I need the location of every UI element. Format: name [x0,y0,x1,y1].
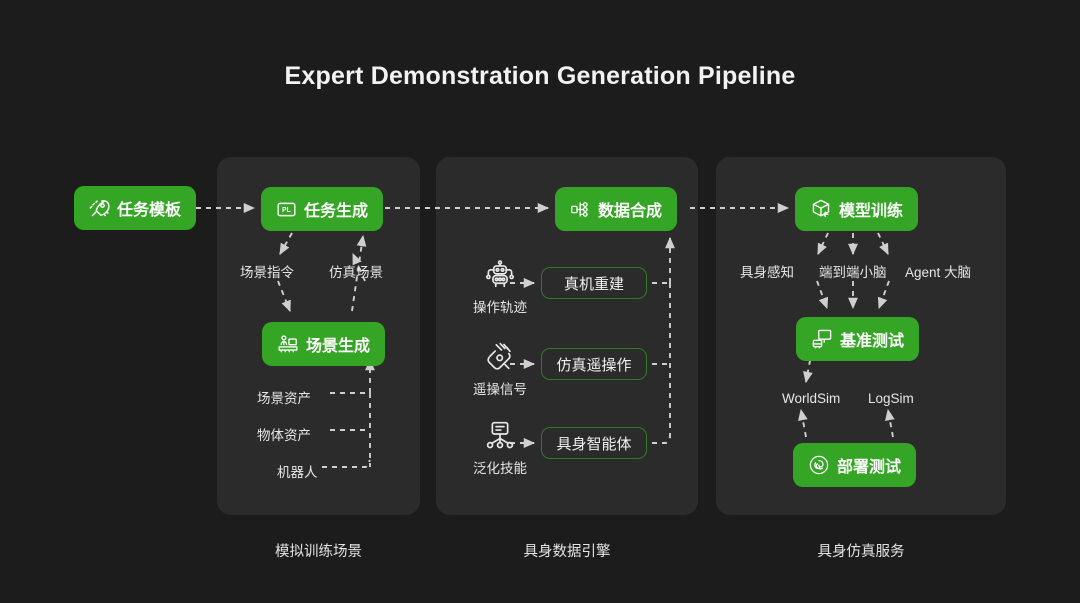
network-chip-icon [481,419,519,453]
monitor-icon [811,328,833,350]
input-label: 遥操信号 [473,378,527,398]
label-logsim: LogSim [868,391,914,406]
node-task-generation[interactable]: PL 任务生成 [261,187,383,231]
caption-panel-3: 具身仿真服务 [716,540,1006,561]
input-generalization-skill: 泛化技能 [463,419,537,477]
label-scene-instruction: 场景指令 [240,261,294,281]
input-teleoperation-signal: 遥操信号 [463,340,537,398]
node-label: 任务生成 [304,197,368,221]
caption-panel-2: 具身数据引擎 [436,540,698,561]
node-label: 场景生成 [306,332,370,356]
node-simulated-teleoperation[interactable]: 仿真遥操作 [541,348,647,380]
cube-arrow-icon [810,198,832,220]
node-benchmark-test[interactable]: 基准测试 [796,317,919,361]
node-model-training[interactable]: 模型训练 [795,187,918,231]
input-label: 操作轨迹 [473,296,527,316]
node-label: 任务模板 [117,196,181,220]
label-embodied-perception: 具身感知 [740,261,794,281]
input-operation-trajectory: 操作轨迹 [463,258,537,316]
page-title: Expert Demonstration Generation Pipeline [0,62,1080,91]
node-label: 数据合成 [598,197,662,221]
node-label: 模型训练 [839,197,903,221]
label-scene-asset: 场景资产 [257,387,311,407]
node-deployment-test[interactable]: 部署测试 [793,443,916,487]
robot-icon [481,258,519,292]
node-scene-generation[interactable]: 场景生成 [262,322,385,366]
input-label: 泛化技能 [473,457,527,477]
label-worldsim: WorldSim [782,391,840,406]
caption-panel-1: 模拟训练场景 [217,540,420,561]
label-agent-brain: Agent 大脑 [905,261,971,281]
label-end-to-end-cerebellum: 端到端小脑 [819,261,887,281]
worker-scene-icon [277,333,299,355]
glove-icon [481,340,519,374]
label-object-asset: 物体资产 [257,424,311,444]
label-robot: 机器人 [277,461,318,481]
node-data-synthesis[interactable]: 数据合成 [555,187,677,231]
node-label: 基准测试 [840,327,904,351]
pipeline-diagram: Expert Demonstration Generation Pipeline [0,0,1080,603]
svg-text:PL: PL [282,207,292,214]
swirl-circle-icon [808,454,830,476]
pl-frame-icon: PL [276,199,297,220]
node-label: 部署测试 [837,453,901,477]
node-real-machine-reconstruction[interactable]: 真机重建 [541,267,647,299]
rocket-icon [89,198,110,219]
node-embodied-agent[interactable]: 具身智能体 [541,427,647,459]
label-simulated-scene: 仿真场景 [329,261,383,281]
data-nodes-icon [570,199,591,220]
node-task-template[interactable]: 任务模板 [74,186,196,230]
